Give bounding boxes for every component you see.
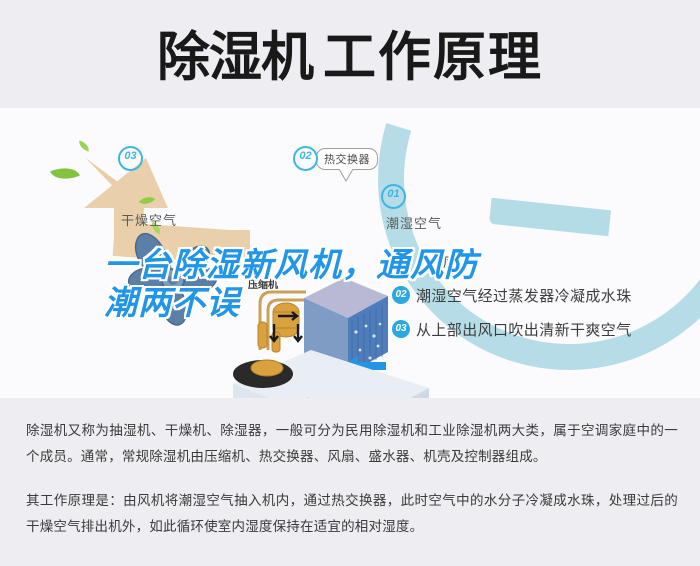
page-title: 除湿机工作原理 [0, 20, 700, 100]
leaf-icon [77, 140, 91, 151]
poster-page: 除湿机工作原理 [0, 0, 700, 566]
callout-pointer-icon [339, 168, 353, 180]
diagram-badge-01: 01 [381, 184, 406, 209]
body-paragraph-1: 除湿机又称为抽湿机、干燥机、除湿器，一般可分为民用除湿机和工业除湿机两大类，属于… [26, 418, 678, 470]
humid-air-label: 潮湿空气 [386, 213, 442, 232]
title-text: 除湿机工作原理 [157, 20, 543, 96]
overlay-headline-line-1: 一台除湿新风机，通风防 [104, 246, 478, 283]
heat-exchanger-callout: 热交换器 [316, 148, 378, 170]
legend-badge: 03 [392, 320, 410, 338]
overlay-headline-line-2: 潮两不误 [104, 284, 664, 322]
diagram-badge-02: 02 [293, 146, 318, 171]
dry-air-label: 干燥空气 [121, 210, 177, 229]
body-paragraph-2: 其工作原理是：由风机将潮湿空气抽入机内，通过热交换器，此时空气中的水分子冷凝成水… [26, 488, 678, 540]
title-part-2: 工作原理 [323, 28, 543, 87]
overlay-headline: 一台除湿新风机，通风防 潮两不误 [104, 246, 664, 322]
body-copy: 除湿机又称为抽湿机、干燥机、除湿器，一般可分为民用除湿机和工业除湿机两大类，属于… [26, 418, 678, 540]
diagram-badge-03: 03 [118, 146, 143, 171]
dehumidifier-body-illustration [215, 344, 445, 398]
title-part-1: 除湿机 [157, 28, 313, 87]
